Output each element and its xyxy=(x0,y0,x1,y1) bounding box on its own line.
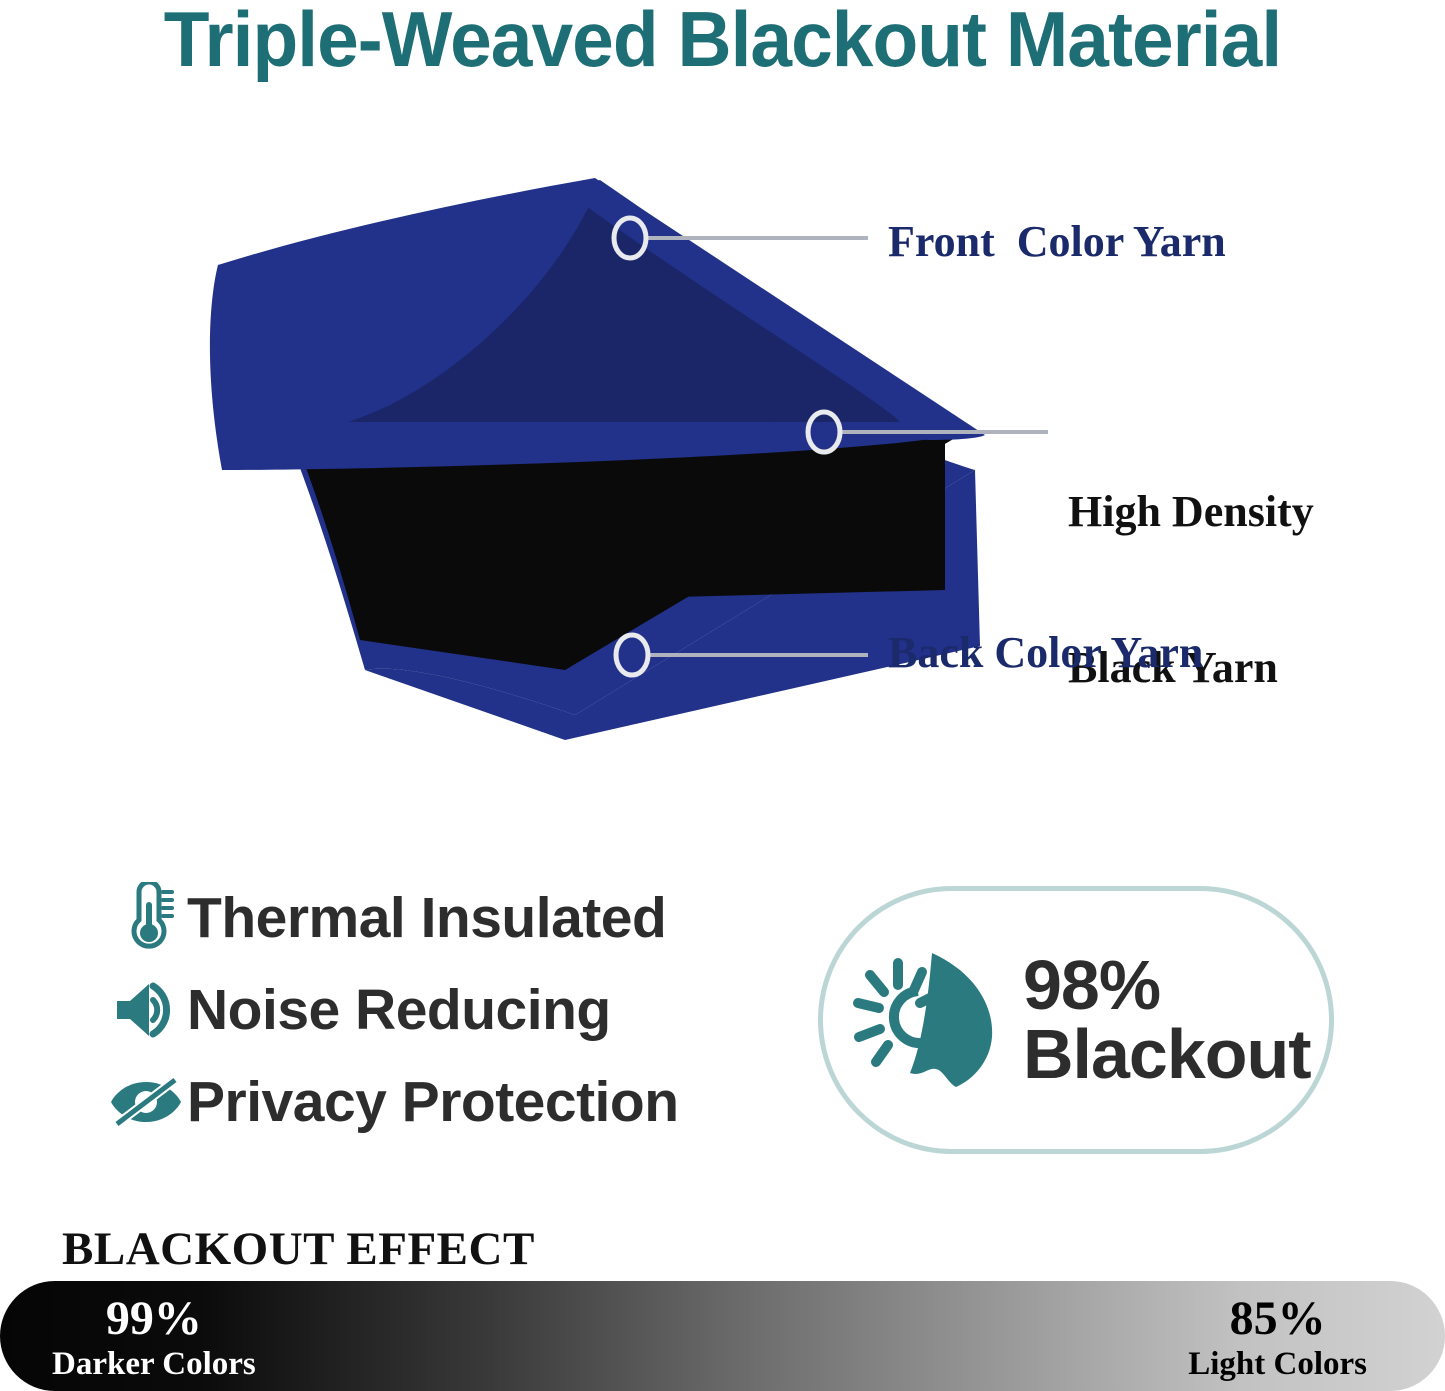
blackout-effect-darker-colors: 99% Darker Colors xyxy=(52,1293,256,1383)
badge-word: Blackout xyxy=(1023,1020,1311,1089)
feature-item-noise-reducing: Noise Reducing xyxy=(105,964,765,1056)
feature-item-thermal-insulated: Thermal Insulated xyxy=(105,872,765,964)
feature-label-noise-reducing: Noise Reducing xyxy=(187,979,611,1041)
callout-label-high-density-black-yarn: High Density Black Yarn xyxy=(1068,382,1314,798)
feature-list: Thermal Insulated Noise Reducing xyxy=(105,872,765,1148)
speaker-sound-icon xyxy=(105,980,187,1040)
sun-blocked-by-curtain-icon xyxy=(823,945,1023,1095)
feature-item-privacy-protection: Privacy Protection xyxy=(105,1056,765,1148)
blackout-effect-heading: BLACKOUT EFFECT xyxy=(62,1223,535,1275)
callout-label-front-color-yarn: Front Color Yarn xyxy=(888,216,1226,268)
blackout-percentage-badge: 98% Blackout xyxy=(818,886,1334,1154)
darker-colors-label: Darker Colors xyxy=(52,1345,256,1383)
eye-slash-icon xyxy=(105,1074,187,1130)
infographic-page: Triple-Weaved Blackout Material xyxy=(0,0,1445,1391)
feature-label-privacy-protection: Privacy Protection xyxy=(187,1071,679,1133)
light-colors-percent: 85% xyxy=(1188,1293,1367,1345)
badge-percent: 98% xyxy=(1023,951,1311,1020)
page-title: Triple-Weaved Blackout Material xyxy=(29,0,1416,82)
thermometer-icon xyxy=(105,882,187,954)
feature-label-thermal-insulated: Thermal Insulated xyxy=(187,887,666,949)
blackout-effect-gradient-bar: 99% Darker Colors 85% Light Colors xyxy=(0,1281,1445,1391)
badge-text-block: 98% Blackout xyxy=(1023,951,1311,1088)
blackout-effect-light-colors: 85% Light Colors xyxy=(1188,1293,1367,1383)
callout-label-line-1: High Density xyxy=(1068,486,1314,538)
light-colors-label: Light Colors xyxy=(1188,1345,1367,1383)
darker-colors-percent: 99% xyxy=(52,1293,256,1345)
callout-label-back-color-yarn: Back Color Yarn xyxy=(888,627,1203,679)
